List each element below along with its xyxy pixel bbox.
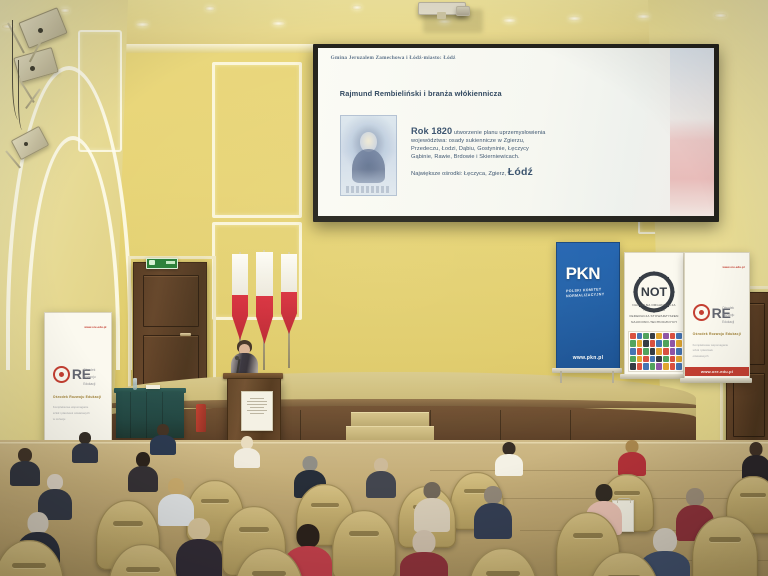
chair-back-slot (239, 527, 270, 532)
chair-back-slot (113, 521, 144, 526)
attendee-head (18, 448, 32, 462)
downlight (714, 13, 727, 18)
attendee-head (424, 482, 441, 499)
slide-lead-year: Rok 1820 (411, 126, 452, 136)
ore-wordmark: Ośrodek Rozwoju Edukacji (722, 305, 734, 325)
chair-back (692, 516, 758, 576)
exit-arrow-icon (166, 261, 175, 264)
ore-word-line-1: Ośrodek (722, 305, 734, 312)
chair[interactable] (588, 552, 660, 576)
attendee-shoulders (618, 452, 646, 476)
attendee (72, 432, 98, 462)
podium-sign-line (247, 404, 267, 405)
slide-footer-line: Największe ośrodki: Łęczyca, Zgierz, Łód… (411, 165, 649, 180)
chair[interactable] (332, 510, 396, 576)
chair[interactable] (692, 516, 758, 576)
downlight (568, 16, 581, 21)
attendee-head (188, 518, 210, 540)
ore-word-line-2: Rozwoju (722, 312, 734, 319)
stage-step-2 (346, 426, 434, 441)
ore-top-url: www.ore.edu.pl (722, 265, 744, 269)
ore-body-line-3: oświatowych (693, 354, 743, 360)
banner-pkn-leg (560, 371, 562, 383)
attendee-head (168, 478, 184, 495)
ore-circle-icon (53, 366, 70, 383)
slide-body-line-1: Rok 1820 utworzenie planu uprzemysłowien… (411, 125, 649, 138)
stage-face-seam (500, 410, 501, 444)
chair[interactable] (0, 540, 64, 576)
attendee-head (596, 484, 613, 502)
stage-face-seam (570, 410, 571, 444)
slide-body-text-1: utworzenie planu uprzemysłowienia (454, 130, 546, 136)
left-wall-panel (78, 30, 122, 152)
chair-back (0, 540, 64, 576)
pkn-url: www.pkn.pl (557, 355, 619, 361)
banner-not: NOT NACZELNA ORGANIZACJA TECHNICZNA FEDE… (624, 252, 684, 378)
fire-extinguisher (196, 404, 206, 432)
floor-plank-seam (430, 470, 768, 471)
ore-circle-icon (693, 304, 710, 321)
attendee (234, 436, 260, 466)
attendee (618, 440, 646, 474)
chair-back-slot (573, 533, 604, 538)
attendee (474, 486, 512, 536)
attendee (400, 530, 448, 576)
table-papers (146, 385, 160, 389)
chair-back-slot (126, 567, 160, 572)
podium-sign-line (250, 407, 264, 408)
door-panel-upper (143, 275, 199, 327)
attendee (176, 518, 222, 576)
door-handle[interactable] (180, 333, 191, 336)
attendee-head (297, 524, 320, 548)
attendee-shoulders (474, 503, 512, 539)
chair-back-slot (740, 493, 766, 497)
attendee-shoulders (366, 471, 396, 498)
banner-ore-left: www.ore.edu.pl RE Ośrodek Rozwoju Edukac… (44, 312, 112, 446)
conference-hall-photo: Gmina Jeruzalem Zamechowa i Łódź-miasto:… (0, 0, 768, 576)
projector-mount (437, 12, 446, 19)
attendee-head (136, 452, 150, 467)
chair-back-slot (349, 531, 380, 536)
ore-top-url: www.ore.edu.pl (84, 325, 106, 329)
ore-word-line-3: Edukacji (722, 319, 734, 326)
ore-subtitle: Ośrodek Rozwoju Edukacji (693, 332, 742, 336)
banner-ore-right: www.ore.edu.pl RE Ośrodek Rozwoju Edukac… (684, 252, 750, 382)
not-member-logo-grid (628, 331, 684, 372)
downlight (272, 21, 285, 26)
attendee-shoulders (414, 498, 450, 532)
exit-sign (146, 258, 178, 269)
attendee-head (303, 456, 318, 471)
pkn-subtitle: POLSKI KOMITET NORMALIZACYJNY (566, 287, 613, 300)
attendee-head (750, 442, 763, 456)
chair-back-slot (252, 571, 286, 576)
attendee-head (374, 458, 388, 472)
svg-text:NOT: NOT (641, 285, 668, 299)
wall-panel (212, 62, 302, 218)
downlight (60, 8, 70, 13)
presentation-slide: Gmina Jeruzalem Zamechowa i Łódź-miasto:… (318, 48, 714, 216)
banner-not-base (620, 374, 686, 379)
attendee (150, 424, 176, 454)
banner-ore-right-base (680, 378, 752, 383)
chair[interactable] (234, 548, 304, 576)
downlight (205, 6, 215, 11)
banner-pkn: PKN POLSKI KOMITET NORMALIZACYJNY www.pk… (556, 242, 620, 372)
water-bottle (133, 378, 137, 390)
ore-subtitle: Ośrodek Rozwoju Edukacji (53, 395, 103, 399)
chair-back-slot (12, 563, 46, 568)
slide-header-text: Gmina Jeruzalem Zamechowa i Łódź-miasto:… (331, 55, 456, 61)
rig-knob (30, 66, 35, 71)
rig-knob (38, 28, 43, 33)
attendee-shoulders (234, 448, 260, 468)
chair-back-slot (486, 571, 520, 576)
chair-back (332, 510, 396, 576)
portrait-caption-line (346, 186, 391, 192)
attendee-shoulders (400, 552, 448, 576)
ore-body-text: Kompleksowe wspomaganie szkół i placówek… (53, 405, 104, 423)
attendee-head (47, 474, 63, 490)
downlight (136, 22, 149, 27)
chair[interactable] (468, 548, 538, 576)
floor-stage-joint (0, 442, 768, 445)
attendee (414, 482, 450, 530)
attendee-shoulders (10, 461, 40, 486)
attendee-head (28, 512, 49, 534)
not-caption-line-2: FEDERACJA STOWARZYSZEN NAUKOWO-TECHNICZN… (625, 314, 683, 326)
attendee-shoulders (128, 466, 158, 492)
ore-body-line-3: w rozwoju (53, 417, 104, 423)
banner-pkn-leg (612, 371, 614, 383)
downlight (352, 5, 362, 10)
not-caption-line-1: NACZELNA ORGANIZACJA TECHNICZNA (625, 303, 683, 315)
slide-title: Rajmund Rembieliński i branża włókiennic… (340, 89, 502, 98)
stage-door[interactable] (133, 262, 207, 392)
chair-back-slot (709, 537, 741, 542)
slide-footer-highlight: Łódź (508, 166, 533, 178)
attendee (495, 442, 523, 474)
ore-word-line-2: Rozwoju (83, 374, 95, 381)
flag-white-band (256, 252, 273, 296)
attendee-head (686, 488, 704, 506)
podium-sign-line (247, 410, 267, 411)
podium-sign-line (250, 413, 264, 414)
podium-sign-line (250, 398, 264, 399)
ore-word-line-3: Edukacji (83, 381, 95, 388)
attendee-head (484, 486, 502, 504)
drape-fold (146, 392, 147, 438)
door-panel-lower (143, 335, 199, 385)
attendee (366, 458, 396, 496)
slide-footer-text: Największe ośrodki: Łęczyca, Zgierz, (411, 171, 506, 177)
chair-back-slot (201, 499, 229, 503)
chair-back-slot (311, 503, 339, 507)
stage-step-1 (351, 412, 429, 427)
chair[interactable] (108, 544, 178, 576)
exit-running-man-icon (149, 260, 155, 265)
chair-back (588, 552, 660, 576)
rig-knob (24, 142, 28, 146)
pkn-logo-text: PKN (566, 265, 611, 287)
slide-body-line-3: Przedeczu, Łodzi, Dąbiu, Gostyninie, Łęc… (411, 146, 649, 154)
slide-portrait-image (340, 115, 397, 196)
attendee-head (413, 530, 436, 554)
ore-url-bar: www.ore.edu.pl (685, 367, 749, 376)
stage-face-seam (300, 410, 301, 444)
podium-sign-line (247, 401, 267, 402)
projection-screen-surface: Gmina Jeruzalem Zamechowa i Łódź-miasto:… (318, 48, 714, 216)
attendee-shoulders (72, 443, 98, 463)
drape-fold (130, 392, 131, 438)
ore-wordmark: Ośrodek Rozwoju Edukacji (83, 367, 95, 387)
attendee-shoulders (176, 539, 222, 576)
rig-cable (18, 60, 29, 130)
flag-white-band (281, 254, 297, 292)
attendee (10, 448, 40, 484)
downlight (503, 18, 516, 23)
slide-flag-reflection (670, 48, 714, 216)
slide-body-line-4: Gąbinie, Rawie, Brdowie i Skierniewicach… (411, 154, 649, 162)
attendee-head (653, 528, 677, 553)
ore-body-text: Kompleksowe wspomaganie szkół i placówek… (693, 343, 743, 361)
attendee (128, 452, 158, 490)
flag-white-band (232, 254, 248, 295)
podium (227, 378, 281, 442)
slide-body-line-2: województwa: osady sukiennicze w Zgierzu… (411, 138, 649, 146)
attendee (742, 442, 768, 478)
not-caption: NACZELNA ORGANIZACJA TECHNICZNA FEDERACJ… (625, 303, 683, 327)
projector-lens-housing (456, 6, 470, 16)
downlight (637, 14, 650, 19)
podium-sign (241, 391, 273, 431)
portrait-torso (352, 149, 385, 182)
slide-body-text: Rok 1820 utworzenie planu uprzemysłowien… (411, 125, 649, 180)
ore-word-line-1: Ośrodek (83, 367, 95, 374)
